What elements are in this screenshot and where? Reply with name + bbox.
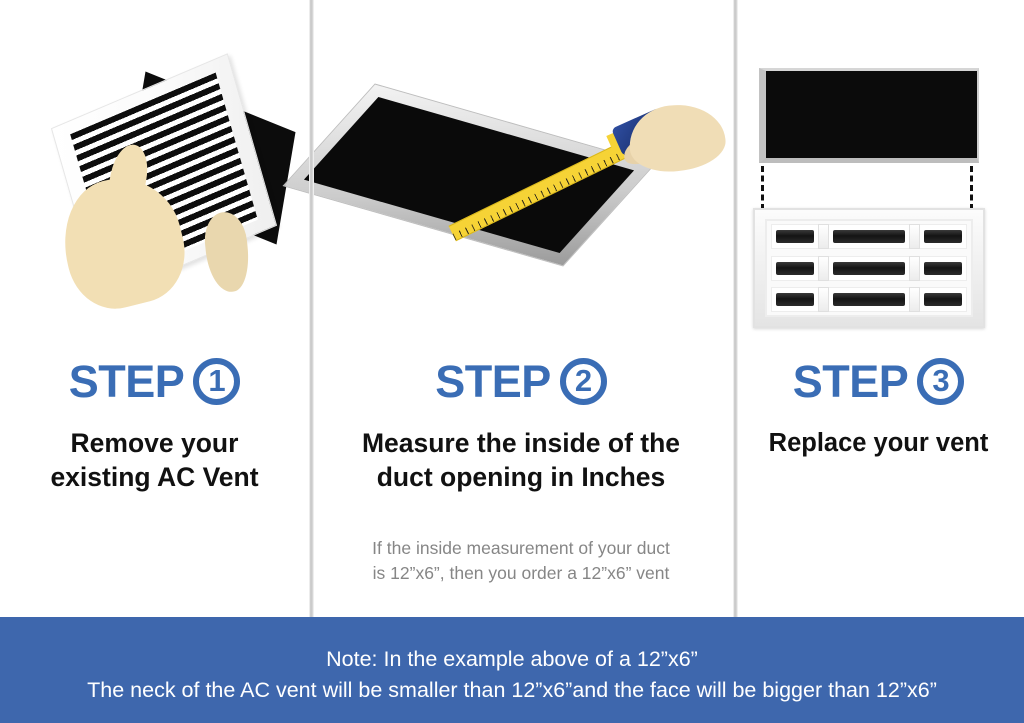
- step-2-subnote: If the inside measurement of your duct i…: [309, 536, 733, 587]
- vent-blade: [833, 293, 905, 306]
- vent-blade: [924, 262, 962, 275]
- step-3-number-circle-icon: 3: [917, 358, 964, 405]
- step-3-text-zone: STEP 3 Replace your vent: [733, 355, 1024, 460]
- step-2-number-circle-icon: 2: [560, 358, 607, 405]
- step-3-label: STEP 3: [733, 355, 1024, 407]
- step-1-number-circle-icon: 1: [193, 358, 240, 405]
- step-3-number: 3: [932, 365, 949, 396]
- step-1-label: STEP 1: [0, 355, 309, 407]
- vent-post: [818, 224, 829, 249]
- alignment-dashed-line-right: [970, 166, 973, 210]
- duct-opening-frame: [282, 83, 655, 266]
- alignment-dashed-line-left: [761, 166, 764, 210]
- note-banner-line-1: Note: In the example above of a 12”x6”: [326, 644, 698, 675]
- replacement-vent: [753, 208, 985, 328]
- step-2-number: 2: [575, 365, 592, 396]
- step-1-number: 1: [208, 365, 225, 396]
- step-2-text-zone: STEP 2 Measure the inside of the duct op…: [309, 355, 733, 587]
- vent-exploded-illustration: [751, 68, 1001, 330]
- vent-blade: [776, 230, 814, 243]
- vent-blade-row: [771, 224, 967, 249]
- vent-post: [909, 224, 920, 249]
- step-3-headline: Replace your vent: [733, 427, 1024, 460]
- vent-post: [909, 256, 920, 281]
- vent-blade: [776, 262, 814, 275]
- duct-opening-cover: [759, 68, 979, 163]
- step-1-word: STEP: [69, 359, 185, 404]
- step-3-word: STEP: [793, 359, 909, 404]
- note-banner: Note: In the example above of a 12”x6” T…: [0, 617, 1024, 723]
- step-2-word: STEP: [435, 359, 551, 404]
- step-1-text-zone: STEP 1 Remove your existing AC Vent: [0, 355, 309, 495]
- step-1-illustration-zone: [0, 0, 309, 355]
- hand-icon: [626, 100, 728, 176]
- steps-row: STEP 1 Remove your existing AC Vent: [0, 0, 1024, 617]
- vent-post: [818, 287, 829, 312]
- vent-blade: [833, 230, 905, 243]
- step-2-headline: Measure the inside of the duct opening i…: [309, 427, 733, 495]
- hand-removing-vent-illustration: [58, 82, 308, 312]
- vent-post: [909, 287, 920, 312]
- note-banner-line-2: The neck of the AC vent will be smaller …: [87, 675, 937, 706]
- vent-post: [818, 256, 829, 281]
- step-2-illustration-zone: [309, 0, 733, 355]
- vent-blade: [924, 230, 962, 243]
- step-2-label: STEP 2: [309, 355, 733, 407]
- column-divider-2: [733, 0, 738, 617]
- tape-measure-illustration: [323, 105, 723, 285]
- vent-blade: [776, 293, 814, 306]
- infographic-page: STEP 1 Remove your existing AC Vent: [0, 0, 1024, 723]
- vent-blade: [833, 262, 905, 275]
- step-column-2: STEP 2 Measure the inside of the duct op…: [309, 0, 733, 617]
- step-1-headline: Remove your existing AC Vent: [0, 427, 309, 495]
- step-column-3: STEP 3 Replace your vent: [733, 0, 1024, 617]
- column-divider-1: [309, 0, 314, 617]
- step-3-illustration-zone: [733, 0, 1024, 355]
- step-column-1: STEP 1 Remove your existing AC Vent: [0, 0, 309, 617]
- vent-blade-row: [771, 287, 967, 312]
- vent-blade: [924, 293, 962, 306]
- vent-blade-row: [771, 256, 967, 281]
- vent-frame-inner: [765, 219, 973, 317]
